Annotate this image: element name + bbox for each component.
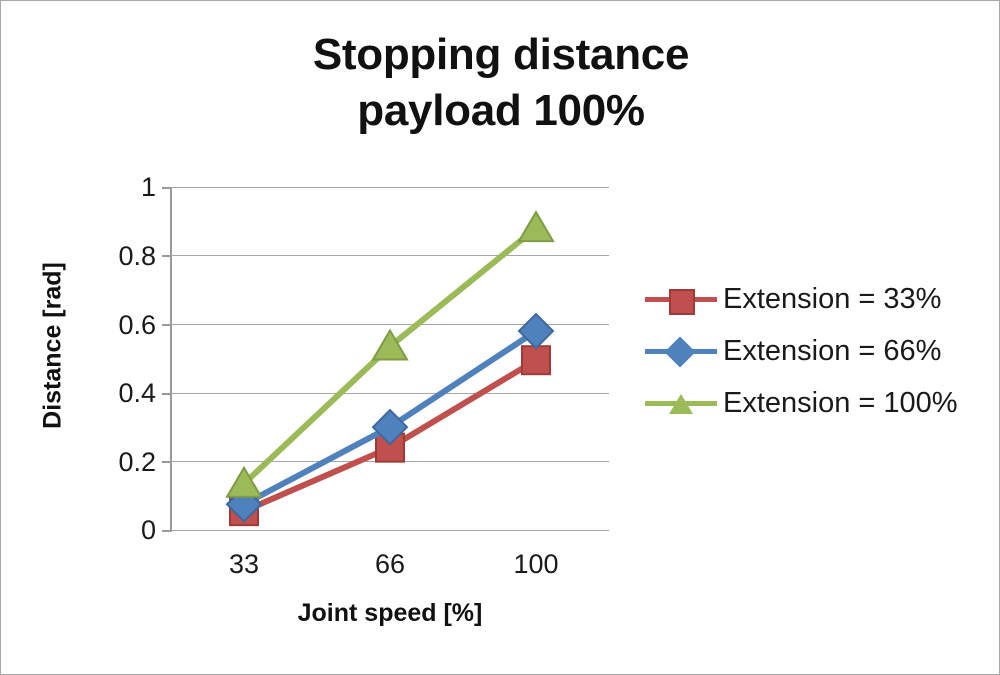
legend-swatch-extension-33 xyxy=(645,282,717,316)
x-tick-label-66: 66 xyxy=(330,549,450,580)
diamond-marker-icon xyxy=(664,336,695,367)
square-marker-icon xyxy=(669,289,695,315)
x-axis-title: Joint speed [%] xyxy=(171,599,609,628)
y-tick-label-0-2: 0.2 xyxy=(1,447,156,478)
gridline-0-2 xyxy=(171,461,609,462)
legend-label-extension-100: Extension = 100% xyxy=(723,387,958,420)
y-tick-label-0-6: 0.6 xyxy=(1,310,156,341)
x-tick-label-33: 33 xyxy=(184,549,304,580)
triangle-marker-icon xyxy=(669,394,693,414)
legend-item-extension-33[interactable]: Extension = 33% xyxy=(645,273,991,325)
legend-label-extension-66: Extension = 66% xyxy=(723,335,941,368)
gridline-0-4 xyxy=(171,393,609,394)
y-tick-label-0-4: 0.4 xyxy=(1,378,156,409)
chart-container: Stopping distance payload 100% Distance … xyxy=(0,0,1000,675)
legend: Extension = 33% Extension = 66% Extensio… xyxy=(645,273,991,429)
y-axis-tick-labels: 1 0.8 0.6 0.4 0.2 0 xyxy=(1,1,156,675)
gridline-0 xyxy=(171,530,609,531)
gridline-1 xyxy=(171,187,609,188)
y-tick-label-0: 0 xyxy=(1,515,156,546)
gridline-0-8 xyxy=(171,255,609,256)
legend-item-extension-100[interactable]: Extension = 100% xyxy=(645,377,991,429)
legend-swatch-extension-100 xyxy=(645,386,717,420)
legend-label-extension-33: Extension = 33% xyxy=(723,283,941,316)
y-tick-label-0-8: 0.8 xyxy=(1,241,156,272)
x-tick-label-100: 100 xyxy=(476,549,596,580)
plot-area xyxy=(171,187,609,530)
gridline-0-6 xyxy=(171,324,609,325)
y-tick-label-1: 1 xyxy=(1,172,156,203)
legend-item-extension-66[interactable]: Extension = 66% xyxy=(645,325,991,377)
legend-swatch-extension-66 xyxy=(645,334,717,368)
